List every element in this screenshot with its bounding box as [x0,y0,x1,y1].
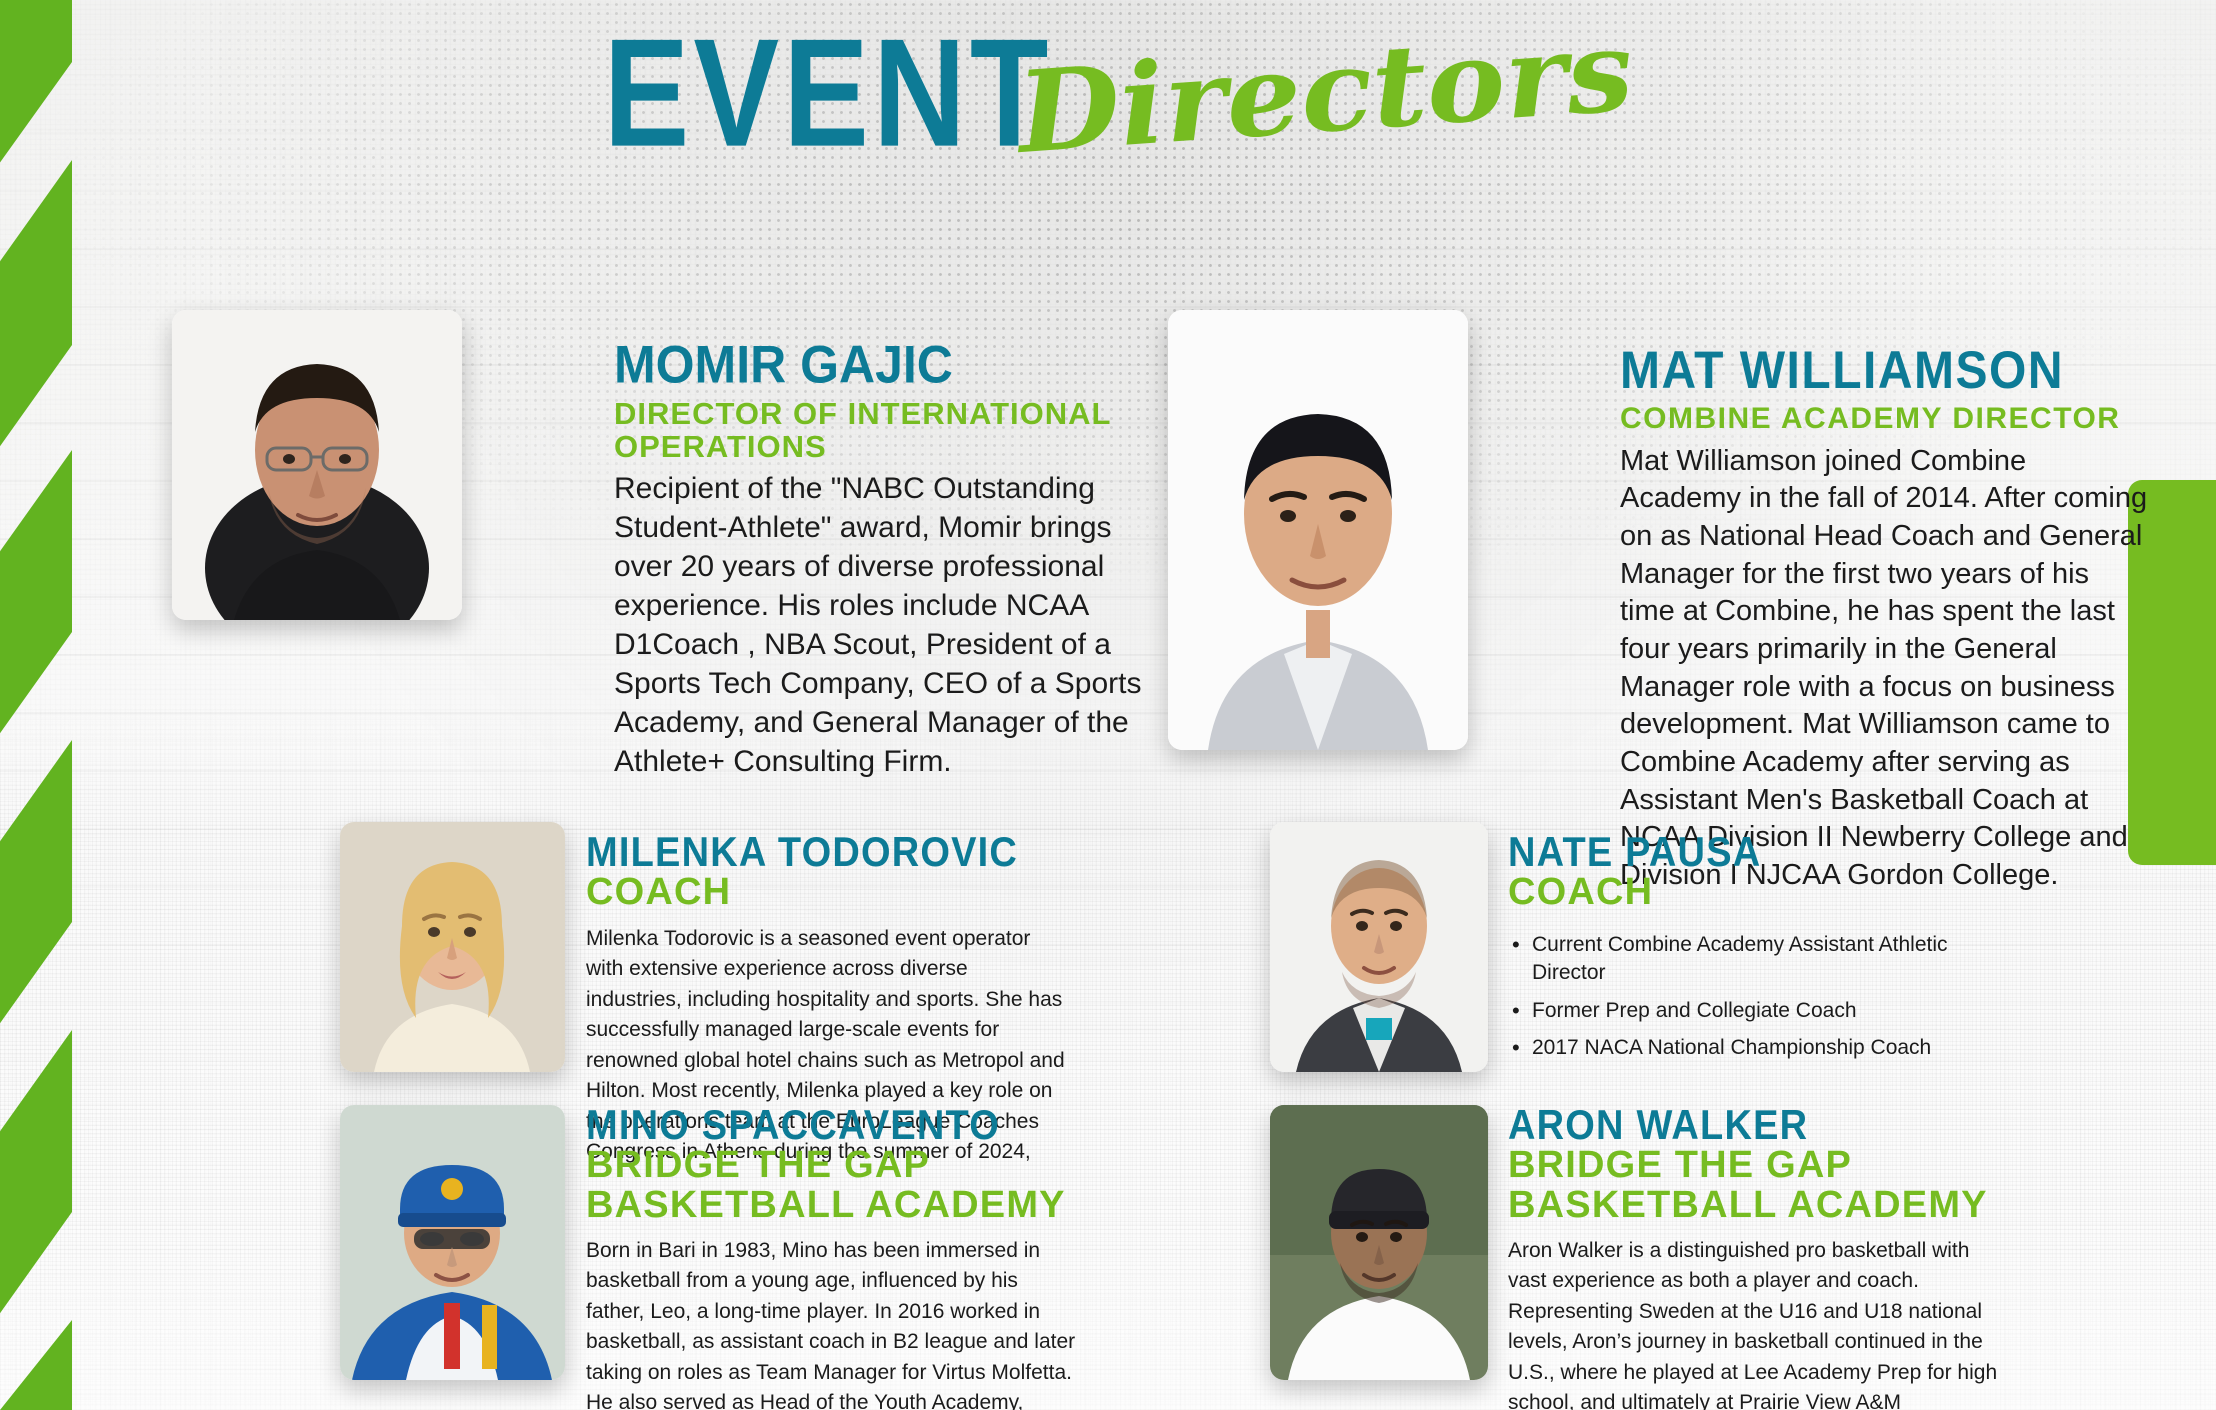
director-role: COMBINE ACADEMY DIRECTOR [1620,403,2150,435]
director-bio: Born in Bari in 1983, Mino has been imme… [586,1236,1076,1410]
portrait-card-mat-williamson [1168,310,1468,750]
director-name: ARON WALKER [1508,1105,1998,1147]
director-name: MOMIR GAJIC [614,338,1144,391]
list-item: 2017 NACA National Championship Coach [1508,1034,1978,1062]
director-block-mat-williamson: MAT WILLIAMSON COMBINE ACADEMY DIRECTOR … [1620,345,2150,895]
director-bio: Recipient of the "NABC Outstanding Stude… [614,469,1144,781]
title-event-word: EVENT [603,16,1052,170]
director-role: DIRECTOR OF INTERNATIONAL OPERATIONS [614,398,1144,463]
director-block-momir-gajic: MOMIR GAJIC DIRECTOR OF INTERNATIONAL OP… [614,338,1144,781]
director-role: BRIDGE THE GAP BASKETBALL ACADEMY [586,1146,1076,1226]
director-block-aron-walker: ARON WALKER BRIDGE THE GAP BASKETBALL AC… [1508,1105,1998,1410]
director-name: MINO SPACCAVENTO [586,1105,1076,1147]
portrait-card-mino-spaccavento [340,1105,565,1380]
director-role: COACH [1508,873,1978,913]
director-name: NATE PAUSA [1508,832,1978,874]
left-green-stripes [0,0,104,1410]
portrait-card-milenka-todorovic [340,822,565,1072]
portrait-card-aron-walker [1270,1105,1488,1380]
director-block-mino-spaccavento: MINO SPACCAVENTO BRIDGE THE GAP BASKETBA… [586,1105,1076,1410]
director-name: MILENKA TODOROVIC [586,832,1066,874]
director-bio: Mat Williamson joined Combine Academy in… [1620,443,2150,895]
director-name: MAT WILLIAMSON [1620,345,2150,398]
director-role: COACH [586,873,1066,913]
portrait-card-nate-pausa [1270,822,1488,1072]
page-title: EVENTDirectors [0,44,2216,170]
director-bullet-list: Current Combine Academy Assistant Athlet… [1508,931,1978,1062]
list-item: Current Combine Academy Assistant Athlet… [1508,931,1978,988]
title-directors-word: Directors [1014,15,1636,170]
director-role: BRIDGE THE GAP BASKETBALL ACADEMY [1508,1146,1998,1226]
director-bio: Aron Walker is a distinguished pro baske… [1508,1236,1998,1410]
director-block-nate-pausa: NATE PAUSA COACH Current Combine Academy… [1508,832,1978,1071]
portrait-card-momir-gajic [172,310,462,620]
list-item: Former Prep and Collegiate Coach [1508,997,1978,1025]
